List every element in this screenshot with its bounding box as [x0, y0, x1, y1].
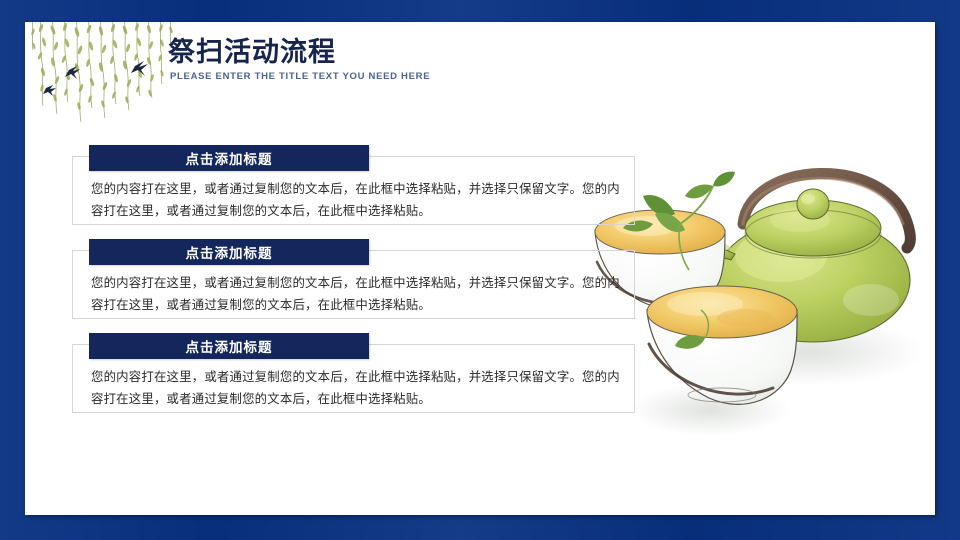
page-subtitle: PLEASE ENTER THE TITLE TEXT YOU NEED HER…	[170, 71, 588, 82]
box-title[interactable]: 点击添加标题	[89, 145, 369, 171]
teacup-illustration	[647, 286, 797, 404]
page-title: 祭扫活动流程	[168, 38, 588, 68]
willow-branch-icon	[25, 22, 182, 138]
box-title[interactable]: 点击添加标题	[89, 239, 369, 265]
tea-leaf-icon	[623, 172, 735, 270]
box-body-text: 您的内容打在这里，或者通过复制您的文本后，在此框中选择粘贴，并选择只保留文字。您…	[91, 367, 622, 410]
tea-leaf-icon	[675, 335, 705, 349]
content-box[interactable]: 点击添加标题 您的内容打在这里，或者通过复制您的文本后，在此框中选择粘贴，并选择…	[72, 250, 635, 319]
content-box[interactable]: 点击添加标题 您的内容打在这里，或者通过复制您的文本后，在此框中选择粘贴，并选择…	[72, 156, 635, 225]
content-box[interactable]: 点击添加标题 您的内容打在这里，或者通过复制您的文本后，在此框中选择粘贴，并选择…	[72, 344, 635, 413]
slide-canvas: 祭扫活动流程 PLEASE ENTER THE TITLE TEXT YOU N…	[25, 22, 935, 515]
box-title[interactable]: 点击添加标题	[89, 333, 369, 359]
box-body-text: 您的内容打在这里，或者通过复制您的文本后，在此框中选择粘贴，并选择只保留文字。您…	[91, 179, 622, 222]
slide-header: 祭扫活动流程 PLEASE ENTER THE TITLE TEXT YOU N…	[168, 38, 588, 108]
swallow-bird-icon	[43, 61, 148, 96]
box-body-text: 您的内容打在这里，或者通过复制您的文本后，在此框中选择粘贴，并选择只保留文字。您…	[91, 273, 622, 316]
teapot-illustration	[585, 152, 935, 452]
presentation-slide: 祭扫活动流程 PLEASE ENTER THE TITLE TEXT YOU N…	[0, 0, 960, 540]
